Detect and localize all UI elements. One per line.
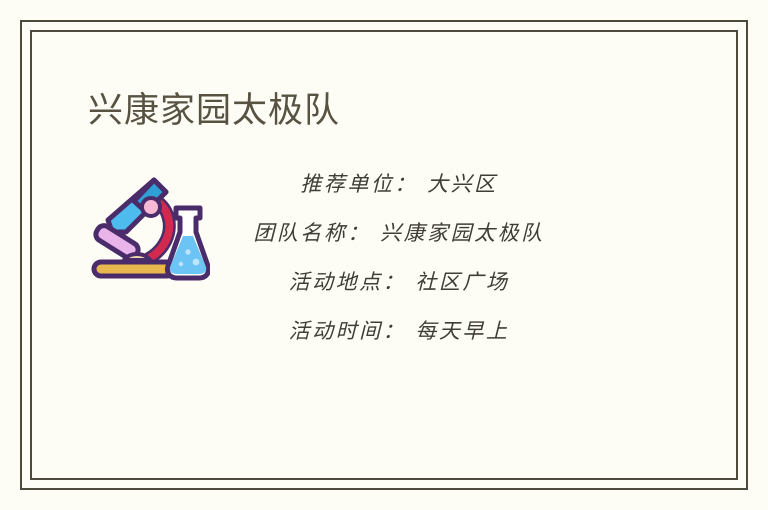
- microscope-stage: [124, 254, 150, 260]
- microscope-knob: [142, 198, 160, 216]
- flask-bubble-3: [179, 262, 183, 266]
- poster-card: 兴康家园太极队: [0, 0, 768, 510]
- card-content: 兴康家园太极队: [64, 64, 704, 446]
- info-line-recommend-unit: 推荐单位： 大兴区: [300, 168, 497, 201]
- decorative-frame-inner: 兴康家园太极队: [30, 30, 738, 480]
- flask-bubble-1: [185, 249, 190, 254]
- page-title: 兴康家园太极队: [88, 88, 340, 134]
- microscope-base: [94, 262, 174, 276]
- flask-bubble-2: [193, 259, 200, 266]
- info-section: 推荐单位： 大兴区 团队名称： 兴康家园太极队 活动地点： 社区广场 活动时间：…: [64, 168, 704, 348]
- info-line-list: 推荐单位： 大兴区 团队名称： 兴康家园太极队 活动地点： 社区广场 活动时间：…: [234, 168, 704, 348]
- microscope-flask-icon: [88, 174, 210, 286]
- icon-container: [64, 168, 234, 286]
- info-line-activity-time: 活动时间： 每天早上: [289, 315, 510, 348]
- info-line-activity-place: 活动地点： 社区广场: [289, 266, 510, 299]
- info-line-team-name: 团队名称： 兴康家园太极队: [253, 217, 544, 250]
